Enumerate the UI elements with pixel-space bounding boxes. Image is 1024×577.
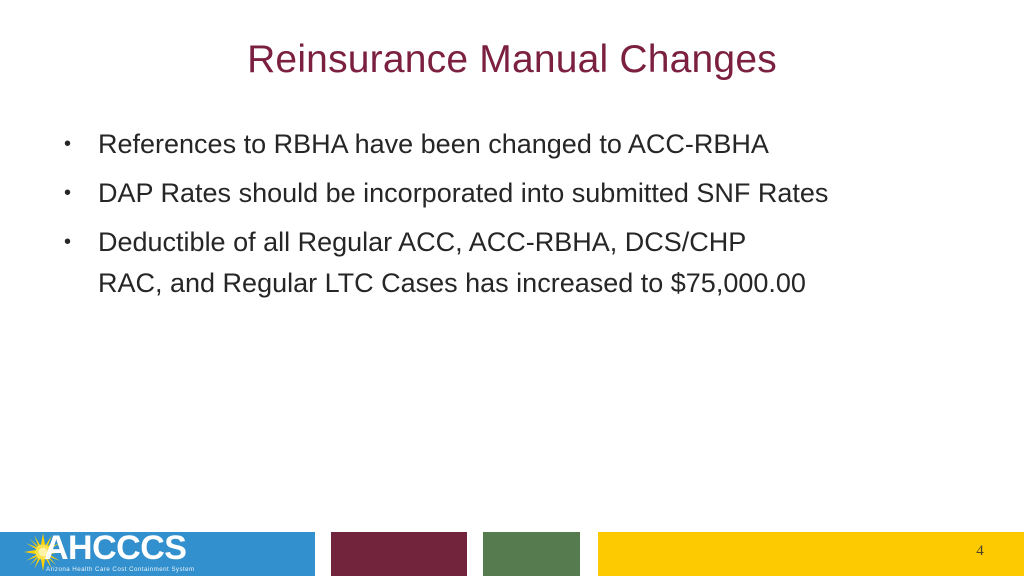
footer-block-green xyxy=(483,532,580,576)
bullet-list: • References to RBHA have been changed t… xyxy=(56,124,976,312)
list-item: • Deductible of all Regular ACC, ACC-RBH… xyxy=(56,222,976,304)
bullet-text: References to RBHA have been changed to … xyxy=(98,124,976,165)
bullet-marker-icon: • xyxy=(64,222,78,263)
bullet-marker-icon: • xyxy=(64,173,78,214)
page-title: Reinsurance Manual Changes xyxy=(0,36,1024,84)
ahccs-wordmark: AHCCCS xyxy=(44,531,186,565)
ahccs-logo: AHCCCS Arizona Health Care Cost Containm… xyxy=(22,529,202,577)
footer-block-maroon xyxy=(331,532,467,576)
bullet-text: Deductible of all Regular ACC, ACC-RBHA,… xyxy=(98,222,976,263)
ahccs-tagline: Arizona Health Care Cost Containment Sys… xyxy=(46,566,195,574)
list-item: • References to RBHA have been changed t… xyxy=(56,124,976,165)
slide: Reinsurance Manual Changes • References … xyxy=(0,0,1024,576)
list-item: • DAP Rates should be incorporated into … xyxy=(56,173,976,214)
page-number: 4 xyxy=(958,541,1002,561)
bullet-text: DAP Rates should be incorporated into su… xyxy=(98,173,976,214)
bullet-text-continuation: RAC, and Regular LTC Cases has increased… xyxy=(98,263,976,304)
bullet-marker-icon: • xyxy=(64,124,78,165)
